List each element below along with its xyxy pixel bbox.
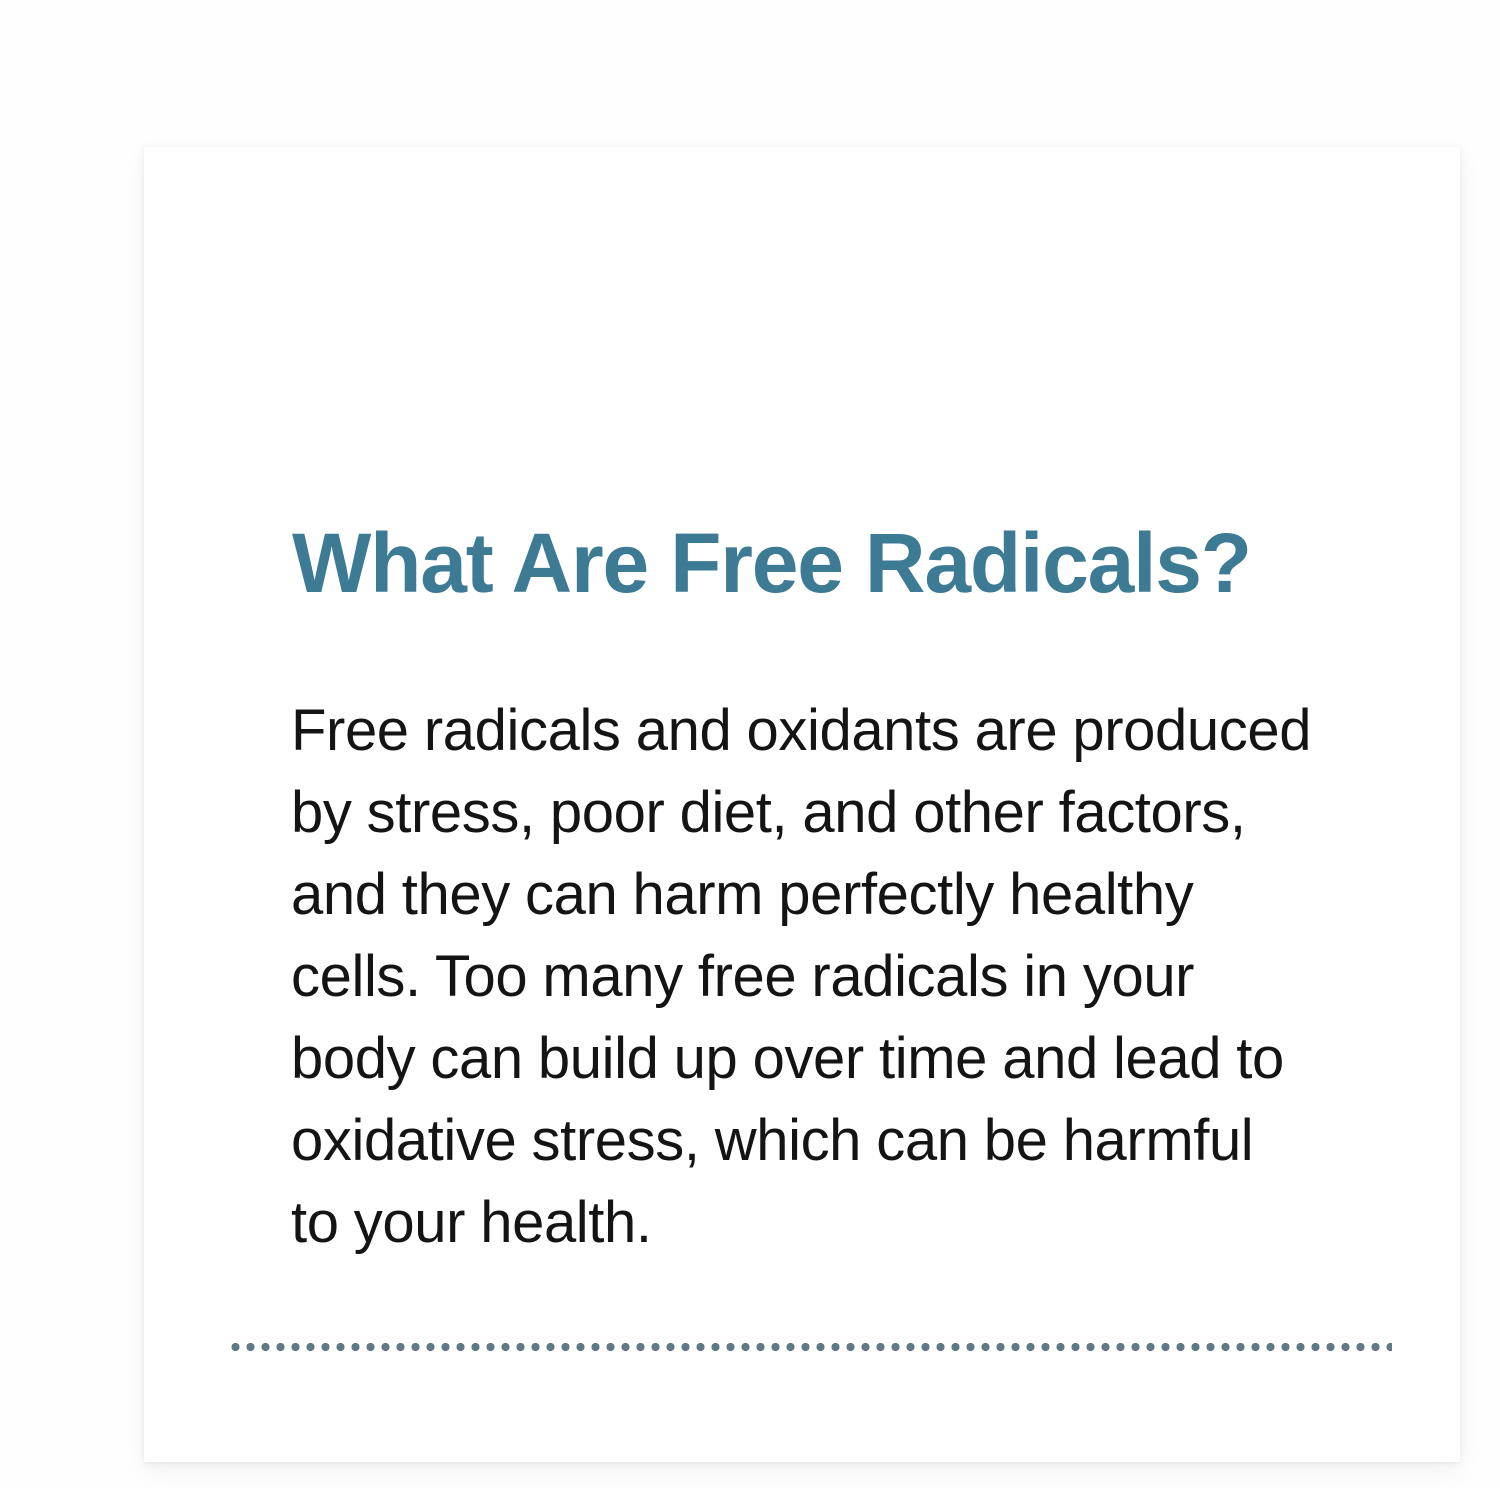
dotted-divider: [228, 1343, 1392, 1351]
page-canvas: What Are Free Radicals? Free radicals an…: [0, 0, 1500, 1488]
info-card: What Are Free Radicals? Free radicals an…: [144, 147, 1460, 1462]
card-body: What Are Free Radicals? Free radicals an…: [144, 147, 1460, 1462]
page-title: What Are Free Radicals?: [292, 521, 1292, 605]
card-paragraph: Free radicals and oxidants are produced …: [291, 690, 1316, 1264]
